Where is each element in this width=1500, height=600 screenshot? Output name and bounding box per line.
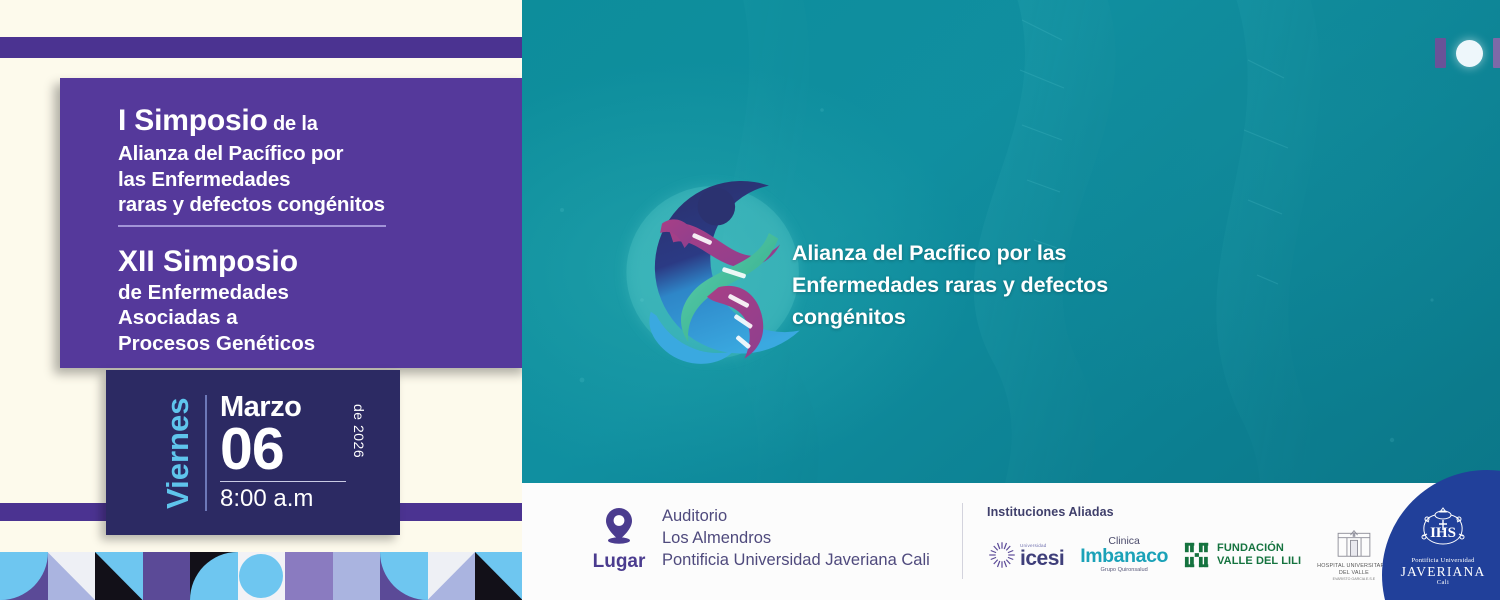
decor-bar2-icon [1493, 38, 1500, 68]
date-time: 8:00 a.m [220, 485, 350, 513]
pattern-tile [428, 552, 476, 600]
lili-line-2: VALLE DEL LILI [1217, 555, 1301, 568]
imbanaco-sub: Grupo Quironsalud [1080, 568, 1168, 574]
logo-imbanaco: Clinica Imbanaco Grupo Quironsalud [1080, 536, 1168, 574]
pattern-tile [285, 552, 333, 600]
huv-line-3: EVARISTO GARCIA E.S.E [1317, 577, 1391, 582]
venue-address: Auditorio Los Almendros Pontificia Unive… [662, 505, 930, 573]
date-weekday: Viernes [160, 389, 196, 517]
date-vertical-rule [205, 395, 207, 511]
decor-bar-icon [1435, 38, 1446, 68]
venue-line-1: Auditorio [662, 505, 930, 527]
huv-line-1: HOSPITAL UNIVERSITARIO [1317, 563, 1391, 570]
date-main: Marzo 06 8:00 a.m de 2026 [220, 392, 350, 514]
logo-icesi: Universidad icesi [987, 540, 1064, 570]
pattern-tile [95, 552, 143, 600]
allies-title: Instituciones Aliadas [987, 505, 1441, 519]
javeriana-line-2: JAVERIANA [1394, 564, 1492, 579]
pattern-tile [333, 552, 381, 600]
tagline: Alianza del Pacífico por las Enfermedade… [792, 237, 1122, 333]
venue-block: Lugar Auditorio Los Almendros Pontificia… [582, 505, 930, 573]
imbanaco-wordmark: Imbanaco [1080, 547, 1168, 567]
left-panel: I Simposio de la Alianza del Pacífico po… [0, 0, 522, 600]
pattern-tile [48, 552, 96, 600]
javeriana-crest-icon: IHS [1413, 506, 1473, 552]
title-simposio-1: I Simposio [118, 104, 268, 137]
javeriana-seal: IHS Pontificia Universidad JAVERIANA Cal… [1382, 470, 1500, 600]
title-line-7: Asociadas a [118, 305, 522, 331]
huv-line-2: DEL VALLE [1317, 570, 1391, 577]
allies-block: Instituciones Aliadas [987, 505, 1441, 582]
footer-bar: Lugar Auditorio Los Almendros Pontificia… [522, 483, 1500, 600]
title-line-8: Procesos Genéticos [118, 331, 522, 357]
title-card: I Simposio de la Alianza del Pacífico po… [60, 78, 522, 368]
title-line-2: Alianza del Pacífico por [118, 141, 522, 167]
title-line-4: raras y defectos congénitos [118, 192, 522, 218]
title-line-3: las Enfermedades [118, 167, 522, 193]
title-line-6: de Enfermedades [118, 280, 522, 306]
logo-hospital-universitario-del-valle: HOSPITAL UNIVERSITARIO DEL VALLE EVARIST… [1317, 528, 1391, 582]
geometric-pattern-strip [0, 552, 522, 600]
date-card: Viernes Marzo 06 8:00 a.m de 2026 [106, 370, 400, 535]
javeriana-line-3: Cali [1394, 579, 1492, 586]
pattern-tile [190, 552, 238, 600]
javeriana-content: IHS Pontificia Universidad JAVERIANA Cal… [1394, 506, 1492, 586]
date-year: de 2026 [351, 404, 367, 458]
figure-head [698, 188, 736, 226]
lili-line-1: FUNDACIÓN [1217, 542, 1301, 555]
title-simposio-12: XII Simposio [118, 244, 522, 280]
huv-building-icon [1336, 528, 1372, 558]
icesi-wordmark: icesi [1020, 549, 1064, 568]
footer-divider [962, 503, 963, 579]
top-purple-bar [0, 37, 522, 58]
pattern-tile [380, 552, 428, 600]
title-dela: de la [268, 113, 318, 135]
pattern-tile [143, 552, 191, 600]
title-line-1: I Simposio de la [118, 104, 522, 141]
venue-line-3: Pontificia Universidad Javeriana Cali [662, 549, 930, 571]
event-banner: I Simposio de la Alianza del Pacífico po… [0, 0, 1500, 600]
allies-logo-row: Universidad icesi Clinica Imbanaco Grupo… [987, 528, 1441, 582]
icesi-starburst-icon [987, 540, 1017, 570]
pattern-tile [238, 552, 286, 600]
title-divider [118, 225, 386, 227]
pattern-tile [475, 552, 522, 600]
pattern-tile [0, 552, 48, 600]
lili-cross-icon [1184, 541, 1212, 569]
location-pin-icon [604, 507, 634, 545]
decor-circle-icon [1456, 40, 1483, 67]
venue-pin-col: Lugar [582, 507, 656, 573]
logo-fundacion-valle-del-lili: FUNDACIÓN VALLE DEL LILI [1184, 541, 1301, 569]
date-day: 06 [220, 422, 350, 476]
corner-decoration [1435, 38, 1500, 68]
venue-line-2: Los Almendros [662, 527, 930, 549]
venue-label: Lugar [582, 551, 656, 573]
javeriana-line-1: Pontificia Universidad [1394, 557, 1492, 564]
